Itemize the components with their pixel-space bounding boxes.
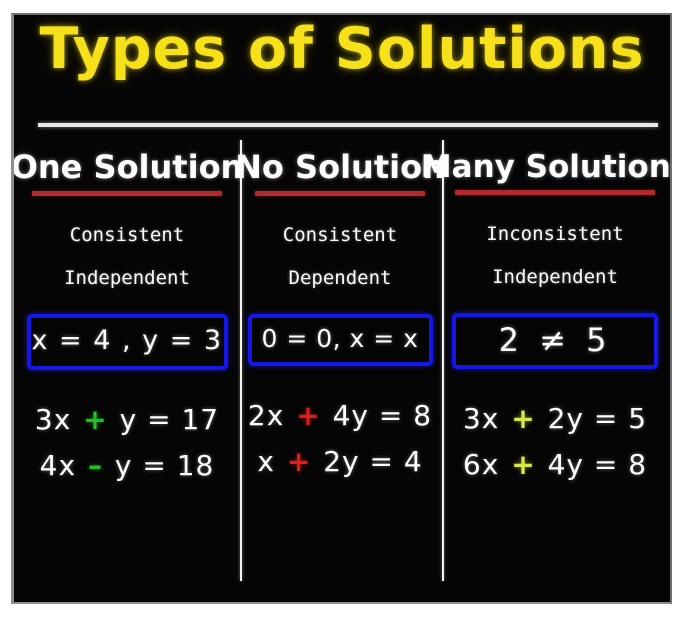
equation-block: 2x + 4y = 8 x + 2y = 4 <box>248 402 432 476</box>
equation-row: 3x + 2y = 5 <box>463 405 647 433</box>
equation-mid-term: 4y <box>548 448 584 481</box>
equation-left-term: 4x <box>40 449 76 482</box>
columns-container: One Solution Consistent Independent x = … <box>14 140 670 602</box>
descriptor-block: Inconsistent Independent <box>486 225 623 287</box>
equation-operator: – <box>86 449 105 482</box>
descriptor-line: Independent <box>64 269 190 288</box>
equation-mid-term: 2y <box>548 402 584 435</box>
equation-mid-term: 2y <box>323 445 359 478</box>
chalkboard-panel: Types of Solutions One Solution Consiste… <box>11 13 672 604</box>
equation-result: = 4 <box>369 445 422 478</box>
column-header-underline <box>32 191 222 196</box>
column-header-underline <box>255 191 425 196</box>
descriptor-line: Independent <box>486 268 623 287</box>
solution-text: 0 = 0, x = x <box>262 326 419 351</box>
descriptor-line: Inconsistent <box>486 225 623 244</box>
equation-result: = 8 <box>379 399 432 432</box>
descriptor-block: Consistent Dependent <box>283 226 397 288</box>
equation-mid-term: 4y <box>333 399 369 432</box>
equation-left-term: 3x <box>35 403 71 436</box>
descriptor-line: Consistent <box>283 226 397 245</box>
equation-block: 3x + y = 17 4x – y = 18 <box>35 406 219 480</box>
column-header: Many Solutions <box>421 151 672 184</box>
equation-row: 4x – y = 18 <box>35 452 219 480</box>
equation-operator: + <box>294 399 322 432</box>
equation-mid-term: y <box>120 403 138 436</box>
equation-row: 2x + 4y = 8 <box>248 402 432 430</box>
equation-row: x + 2y = 4 <box>248 448 432 476</box>
descriptor-line: Consistent <box>64 226 190 245</box>
equation-result: = 17 <box>147 403 219 436</box>
equation-operator: + <box>509 448 537 481</box>
equation-left-term: x <box>257 445 275 478</box>
solution-text: x = 4 , y = 3 <box>31 327 222 354</box>
equation-row: 3x + y = 17 <box>35 406 219 434</box>
equation-result: = 8 <box>594 448 647 481</box>
equation-operator: + <box>285 445 313 478</box>
equation-result: = 5 <box>594 402 647 435</box>
equation-left-term: 6x <box>463 448 499 481</box>
column-many-solutions: Many Solutions Inconsistent Independent … <box>440 140 670 602</box>
column-header-underline <box>455 190 655 195</box>
equation-operator: + <box>81 403 109 436</box>
descriptor-block: Consistent Independent <box>64 226 190 288</box>
title-divider-rule <box>38 123 658 127</box>
column-one-solution: One Solution Consistent Independent x = … <box>14 140 240 602</box>
equation-block: 3x + 2y = 5 6x + 4y = 8 <box>463 405 647 479</box>
column-header: One Solution <box>11 151 243 185</box>
solution-box: 0 = 0, x = x <box>248 314 433 366</box>
equation-row: 6x + 4y = 8 <box>463 451 647 479</box>
page-root: Types of Solutions One Solution Consiste… <box>0 0 700 623</box>
page-title: Types of Solutions <box>14 21 670 78</box>
column-header: No Solution <box>235 151 445 185</box>
solution-text: 2 ≠ 5 <box>499 324 612 356</box>
solution-box: x = 4 , y = 3 <box>27 314 228 370</box>
descriptor-line: Dependent <box>283 269 397 288</box>
solution-box: 2 ≠ 5 <box>452 313 658 369</box>
column-no-solution: No Solution Consistent Dependent 0 = 0, … <box>240 140 440 602</box>
equation-left-term: 3x <box>463 402 499 435</box>
equation-operator: + <box>509 402 537 435</box>
equation-mid-term: y <box>115 449 133 482</box>
equation-result: = 18 <box>142 449 214 482</box>
equation-left-term: 2x <box>248 399 284 432</box>
